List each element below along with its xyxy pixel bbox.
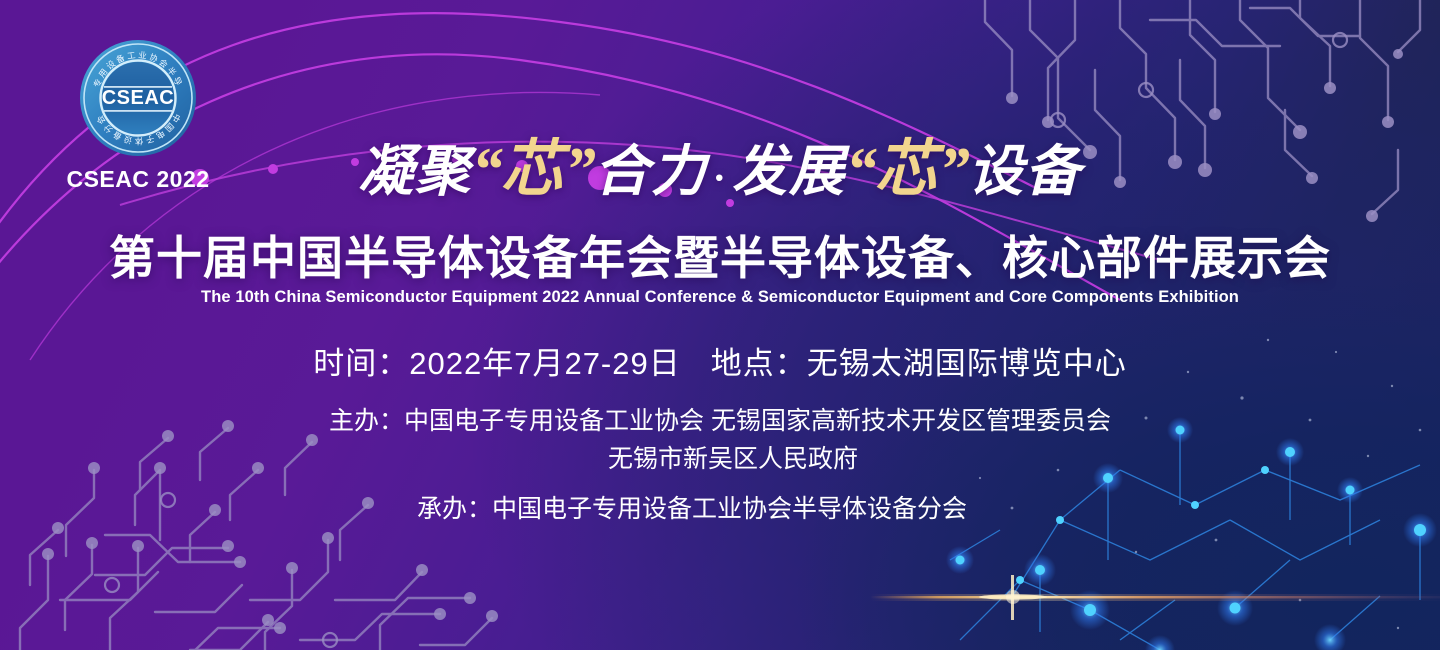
slogan-part4: 设备: [968, 141, 1082, 202]
slogan-open-quote-1: “: [472, 136, 501, 204]
slogan-part2: 合力: [594, 141, 708, 202]
slogan-close-quote-2: ”: [939, 136, 968, 204]
slogan-separator: ·: [708, 155, 732, 200]
slogan-gold-char-1: 芯: [501, 136, 565, 204]
lens-flare-icon: [979, 575, 1047, 620]
venue-label: 地点：无锡太湖国际博览中心: [711, 346, 1127, 381]
organizers-block: 主办：中国电子专用设备工业协会 无锡国家高新技术开发区管理委员会 无锡市新吴区人…: [0, 402, 1440, 528]
slogan-part1: 凝聚: [358, 141, 472, 202]
co-organizer-line: 承办：中国电子专用设备工业协会半导体设备分会: [0, 490, 1440, 528]
logo-acronym-text: CSEAC: [102, 87, 175, 109]
organizer-line-2: 无锡市新吴区人民政府: [0, 440, 1440, 478]
main-headline: 第十届中国半导体设备年会暨半导体设备、核心部件展示会: [0, 222, 1440, 288]
conference-banner: 专用设备工业协会半导 中国电子体设备分会 CSEAC CSEAC 2022 凝聚…: [0, 0, 1440, 650]
slogan-gold-char-2: 芯: [875, 136, 939, 204]
english-subtitle: The 10th China Semiconductor Equipment 2…: [0, 288, 1440, 307]
slogan-part3: 发展: [732, 141, 846, 202]
date-and-venue-line: 时间：2022年7月27-29日地点：无锡太湖国际博览中心: [0, 338, 1440, 383]
slogan-close-quote-1: ”: [565, 136, 594, 204]
date-label: 时间：2022年7月27-29日: [313, 346, 681, 381]
slogan-text: 凝聚“芯”合力·发展“芯”设备: [0, 118, 1440, 208]
slogan-open-quote-2: “: [846, 136, 875, 204]
organizer-line-1: 主办：中国电子专用设备工业协会 无锡国家高新技术开发区管理委员会: [0, 402, 1440, 440]
